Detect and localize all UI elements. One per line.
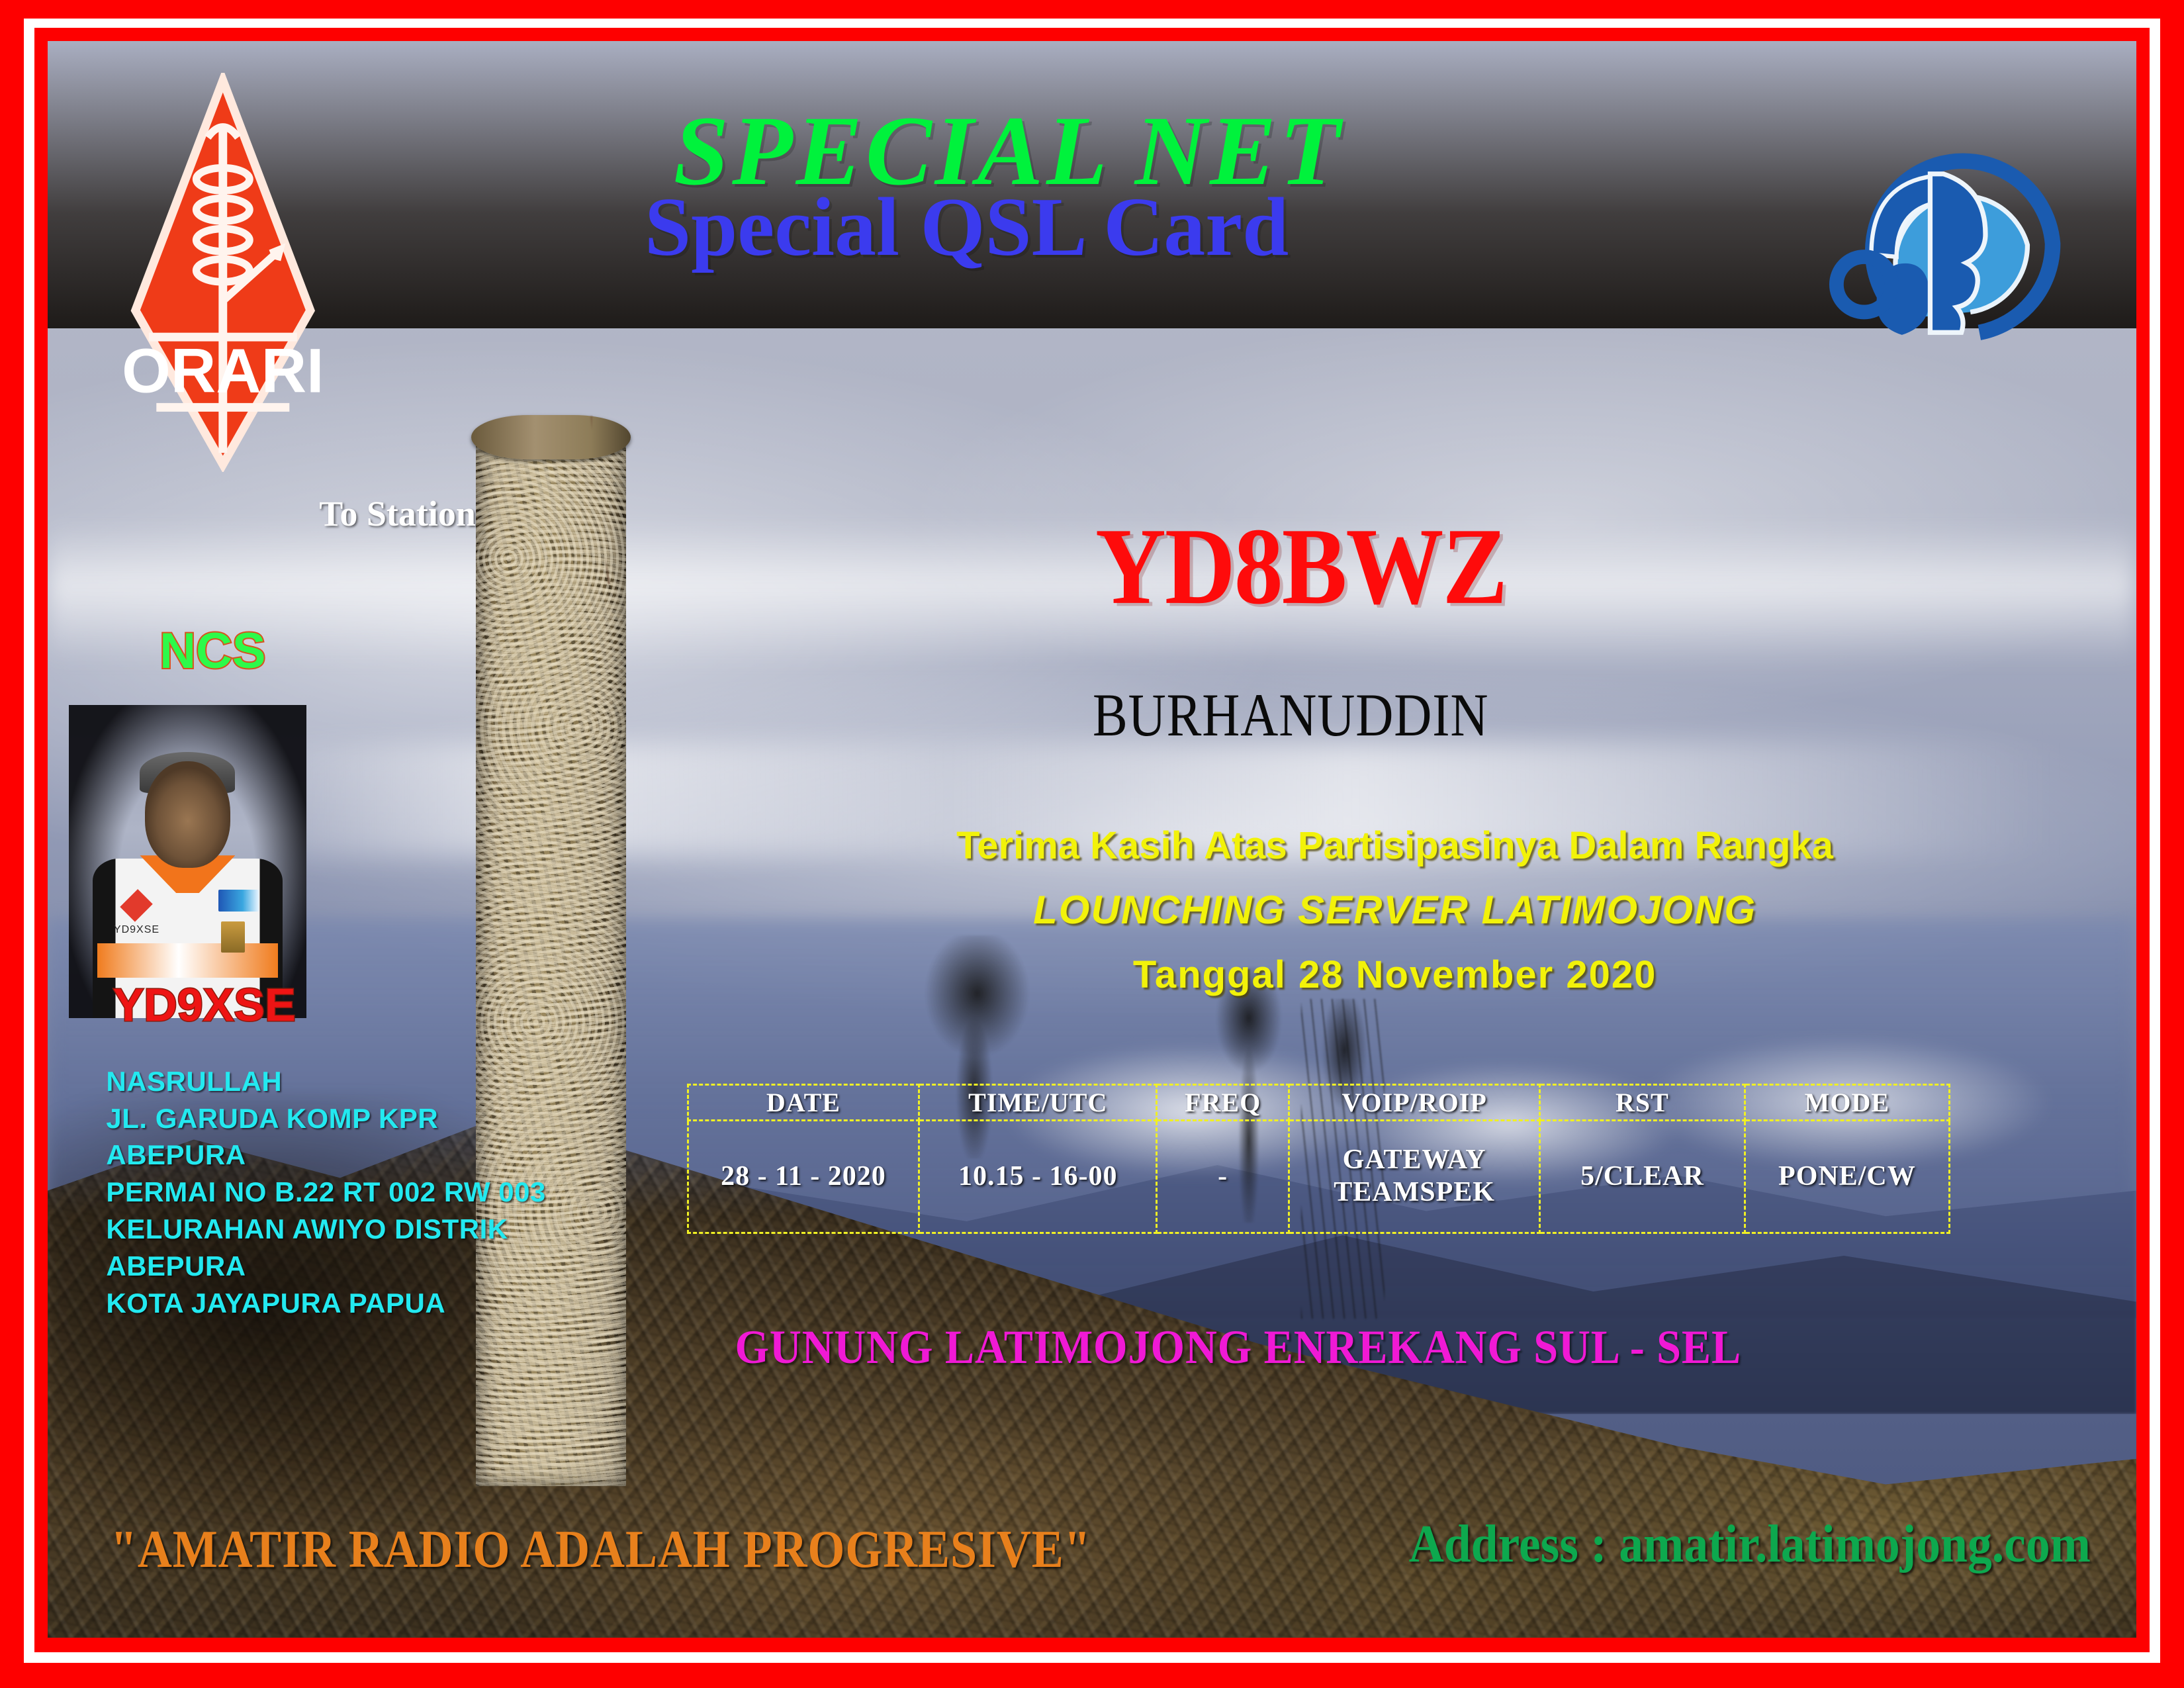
mailing-address-block: NASRULLAH JL. GARUDA KOMP KPR ABEPURA PE… <box>106 1063 545 1322</box>
operator-name: BURHANUDDIN <box>931 680 1650 750</box>
station-callsign: YD8BWZ <box>915 504 1688 630</box>
address-line: NASRULLAH <box>106 1063 545 1100</box>
table-header-mode: MODE <box>1745 1085 1949 1121</box>
photo-id-card <box>221 921 245 953</box>
table-header-date: DATE <box>688 1085 919 1121</box>
table-header-voip: VOIP/ROIP <box>1289 1085 1539 1121</box>
ncs-callsign-label: YD9XSE <box>89 978 319 1031</box>
location-caption: GUNUNG LATIMOJONG ENREKANG SUL - SEL <box>662 1320 1815 1375</box>
address-line: KELURAHAN AWIYO DISTRIK <box>106 1211 545 1248</box>
web-address-text: Address : amatir.latimojong.com <box>1408 1515 2090 1575</box>
table-header-rst: RST <box>1540 1085 1745 1121</box>
to-station-label: To Station <box>319 493 476 534</box>
ncs-label: NCS <box>109 622 318 680</box>
cell-rst: 5/CLEAR <box>1540 1121 1745 1233</box>
cell-voip-line1: GATEWAY <box>1343 1145 1486 1175</box>
cell-freq: - <box>1157 1121 1289 1233</box>
orari-logo-text: ORARI <box>122 336 324 406</box>
photo-badge-right <box>218 890 259 912</box>
card-overlay: ORARI SPECIAL NET Special QSL Card To St… <box>48 41 2136 1638</box>
ncs-operator-photo: YD9XSE <box>69 705 307 1018</box>
headphone-face-logo <box>1829 76 2070 395</box>
qsl-card-frame: ORARI SPECIAL NET Special QSL Card To St… <box>0 0 2184 1688</box>
photo-face <box>145 761 231 868</box>
cell-mode: PONE/CW <box>1745 1121 1949 1233</box>
address-line: ABEPURA <box>106 1137 545 1174</box>
photo-shirt-callsign: YD9XSE <box>114 924 159 936</box>
qso-log-table: DATE TIME/UTC FREQ VOIP/ROIP RST MODE 28… <box>687 1084 1950 1234</box>
table-header-time: TIME/UTC <box>919 1085 1157 1121</box>
table-row: 28 - 11 - 2020 10.15 - 16-00 - GATEWAY T… <box>688 1121 1949 1233</box>
table-header-row: DATE TIME/UTC FREQ VOIP/ROIP RST MODE <box>688 1085 1949 1121</box>
cell-voip-line2: TEAMSPEK <box>1334 1177 1495 1207</box>
thanks-line-1: Terima Kasih Atas Partisipasinya Dalam R… <box>747 823 2042 868</box>
cell-time: 10.15 - 16-00 <box>919 1121 1157 1233</box>
table-header-freq: FREQ <box>1157 1085 1289 1121</box>
thanks-line-3: Tanggal 28 November 2020 <box>747 953 2042 997</box>
thanks-line-2: LOUNCHING SERVER LATIMOJONG <box>747 887 2042 933</box>
address-line: ABEPURA <box>106 1248 545 1285</box>
cell-voip: GATEWAY TEAMSPEK <box>1289 1121 1539 1233</box>
address-line: KOTA JAYAPURA PAPUA <box>106 1285 545 1322</box>
address-line: PERMAI NO B.22 RT 002 RW 003 <box>106 1174 545 1211</box>
slogan-text: "AMATIR RADIO ADALAH PROGRESIVE" <box>111 1520 1091 1580</box>
photo-sash <box>97 943 278 978</box>
cell-date: 28 - 11 - 2020 <box>688 1121 919 1233</box>
address-line: JL. GARUDA KOMP KPR <box>106 1100 545 1137</box>
page-title-secondary: Special QSL Card <box>236 180 1698 275</box>
card-photo-area: ORARI SPECIAL NET Special QSL Card To St… <box>48 41 2136 1638</box>
